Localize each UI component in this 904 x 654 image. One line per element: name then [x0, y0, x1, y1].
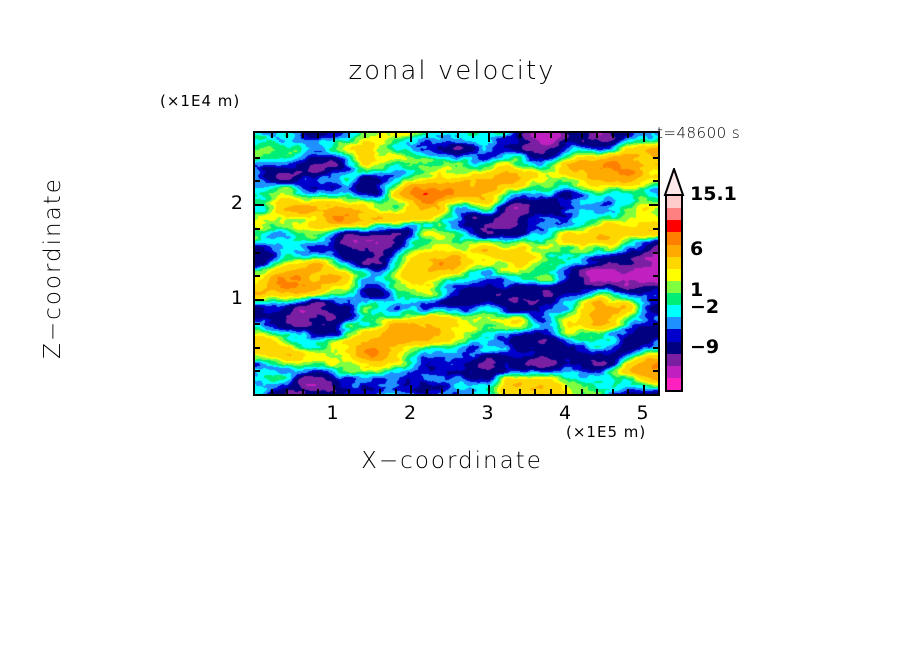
axis-tick [457, 389, 459, 394]
axis-tick [653, 275, 658, 277]
axis-tick [612, 133, 614, 138]
colorbar-band [667, 305, 681, 317]
colorbar-arrow-icon [663, 168, 685, 196]
axis-tick [627, 389, 629, 394]
axis-tick [653, 323, 658, 325]
axis-tick [472, 389, 474, 394]
y-tick-label: 1 [213, 287, 243, 309]
time-annotation: t=48600 s [657, 124, 740, 142]
colorbar-band [667, 342, 681, 354]
axis-tick [348, 389, 350, 394]
colorbar-band [667, 366, 681, 378]
axis-tick [379, 389, 381, 394]
axis-tick [286, 133, 288, 138]
colorbar [665, 194, 683, 392]
colorbar-band [667, 208, 681, 220]
axis-tick [302, 133, 304, 138]
axis-tick [255, 370, 260, 372]
colorbar-tick-label: −9 [690, 336, 719, 358]
y-tick-label: 2 [213, 192, 243, 214]
colorbar-band [667, 329, 681, 341]
x-tick-label: 2 [390, 402, 430, 424]
axis-tick [255, 204, 264, 206]
axis-tick [364, 133, 366, 138]
axis-tick [581, 389, 583, 394]
axis-tick [581, 133, 583, 138]
colorbar-band [667, 257, 681, 269]
axis-tick [317, 133, 319, 138]
axis-tick [653, 180, 658, 182]
axis-tick [649, 204, 658, 206]
y-axis-unit-label: (×1E4 m) [160, 92, 240, 110]
axis-tick [255, 347, 260, 349]
axis-tick [457, 133, 459, 138]
page-title: zonal velocity [0, 56, 904, 86]
x-tick-label: 5 [623, 402, 663, 424]
colorbar-band [667, 220, 681, 232]
axis-tick [550, 389, 552, 394]
y-axis-title: Z−coordinate [40, 138, 66, 398]
colorbar-tick-label: 15.1 [690, 183, 737, 205]
axis-tick [426, 133, 428, 138]
axis-tick [348, 133, 350, 138]
axis-tick [627, 133, 629, 138]
axis-tick [379, 133, 381, 138]
axis-tick [653, 347, 658, 349]
colorbar-tick-label: −2 [690, 296, 719, 318]
axis-tick [519, 389, 521, 394]
axis-tick [255, 228, 260, 230]
axis-tick [612, 389, 614, 394]
axis-tick [255, 323, 260, 325]
axis-tick [410, 385, 412, 394]
axis-tick [649, 299, 658, 301]
axis-tick [333, 385, 335, 394]
axis-tick [653, 252, 658, 254]
velocity-field-heatmap [255, 133, 658, 394]
colorbar-band [667, 196, 681, 208]
axis-tick [596, 133, 598, 138]
x-axis-unit-label: (×1E5 m) [566, 423, 646, 441]
axis-tick [488, 385, 490, 394]
axis-tick [653, 370, 658, 372]
axis-tick [426, 389, 428, 394]
axis-tick [565, 385, 567, 394]
colorbar-band [667, 269, 681, 281]
axis-tick [519, 133, 521, 138]
axis-tick [503, 389, 505, 394]
axis-tick [255, 275, 260, 277]
axis-tick [534, 133, 536, 138]
axis-tick [317, 389, 319, 394]
axis-tick [255, 252, 260, 254]
axis-tick [441, 389, 443, 394]
contour-plot-area [253, 131, 660, 396]
colorbar-band [667, 354, 681, 366]
x-tick-label: 4 [545, 402, 585, 424]
axis-tick [255, 157, 260, 159]
axis-tick [255, 180, 260, 182]
axis-tick [255, 299, 264, 301]
colorbar-tick-label: 6 [690, 238, 703, 260]
axis-tick [302, 389, 304, 394]
axis-tick [410, 133, 412, 142]
x-tick-label: 1 [313, 402, 353, 424]
colorbar-band [667, 281, 681, 293]
axis-tick [271, 133, 273, 138]
x-axis-title: X−coordinate [0, 448, 904, 474]
axis-tick [550, 133, 552, 138]
axis-tick [565, 133, 567, 142]
axis-tick [643, 133, 645, 142]
axis-tick [395, 133, 397, 138]
axis-tick [653, 157, 658, 159]
axis-tick [364, 389, 366, 394]
axis-tick [488, 133, 490, 142]
colorbar-band [667, 245, 681, 257]
colorbar-band [667, 293, 681, 305]
axis-tick [441, 133, 443, 138]
axis-tick [271, 389, 273, 394]
axis-tick [596, 389, 598, 394]
colorbar-band [667, 378, 681, 390]
axis-tick [395, 389, 397, 394]
axis-tick [653, 228, 658, 230]
colorbar-band [667, 232, 681, 244]
colorbar-band [667, 317, 681, 329]
axis-tick [503, 133, 505, 138]
axis-tick [534, 389, 536, 394]
axis-tick [286, 389, 288, 394]
axis-tick [333, 133, 335, 142]
axis-tick [643, 385, 645, 394]
x-tick-label: 3 [468, 402, 508, 424]
axis-tick [472, 133, 474, 138]
